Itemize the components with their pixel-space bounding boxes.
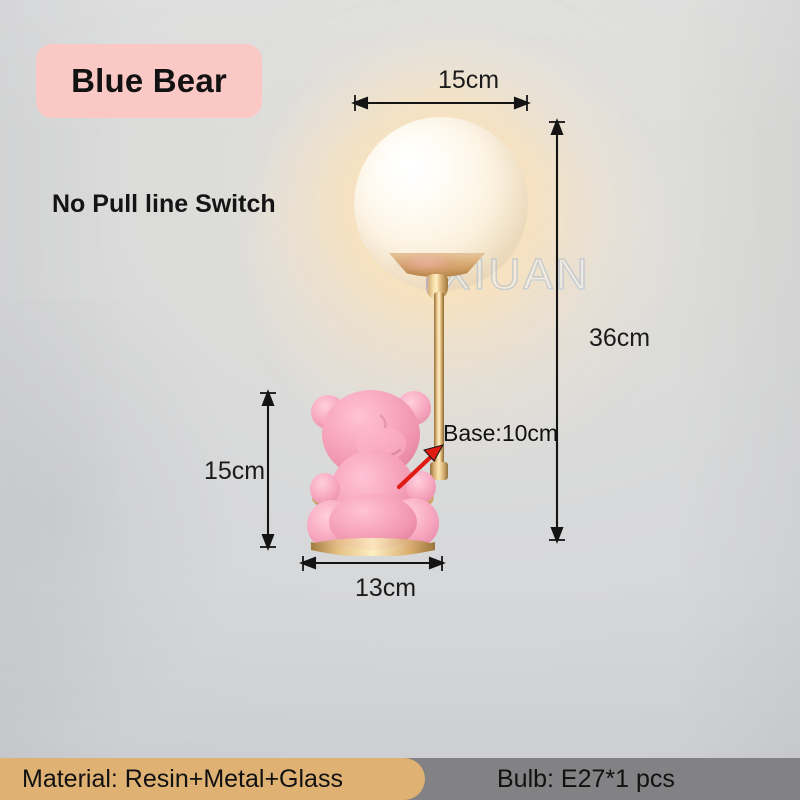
switch-note: No Pull line Switch [52, 190, 276, 219]
variant-badge-label: Blue Bear [71, 62, 227, 100]
globe-highlight [382, 140, 444, 188]
dim-label-bear-width: 13cm [355, 574, 416, 603]
dim-label-total-height: 36cm [589, 324, 650, 353]
pink-bear-figurine [297, 388, 449, 556]
spec-bulb-text: Bulb: E27*1 pcs [497, 758, 675, 800]
dim-label-base-callout: Base:10cm [443, 420, 558, 447]
spec-material-text: Material: Resin+Metal+Glass [22, 758, 343, 800]
product-image: XIUAN [0, 0, 800, 800]
spec-banner: Material: Resin+Metal+Glass Bulb: E27*1 … [0, 758, 800, 800]
dim-label-bear-height: 15cm [204, 457, 265, 486]
lamp-cap-reflection [397, 256, 455, 272]
variant-badge: Blue Bear [36, 44, 262, 118]
dim-label-shade-width: 15cm [438, 66, 499, 95]
